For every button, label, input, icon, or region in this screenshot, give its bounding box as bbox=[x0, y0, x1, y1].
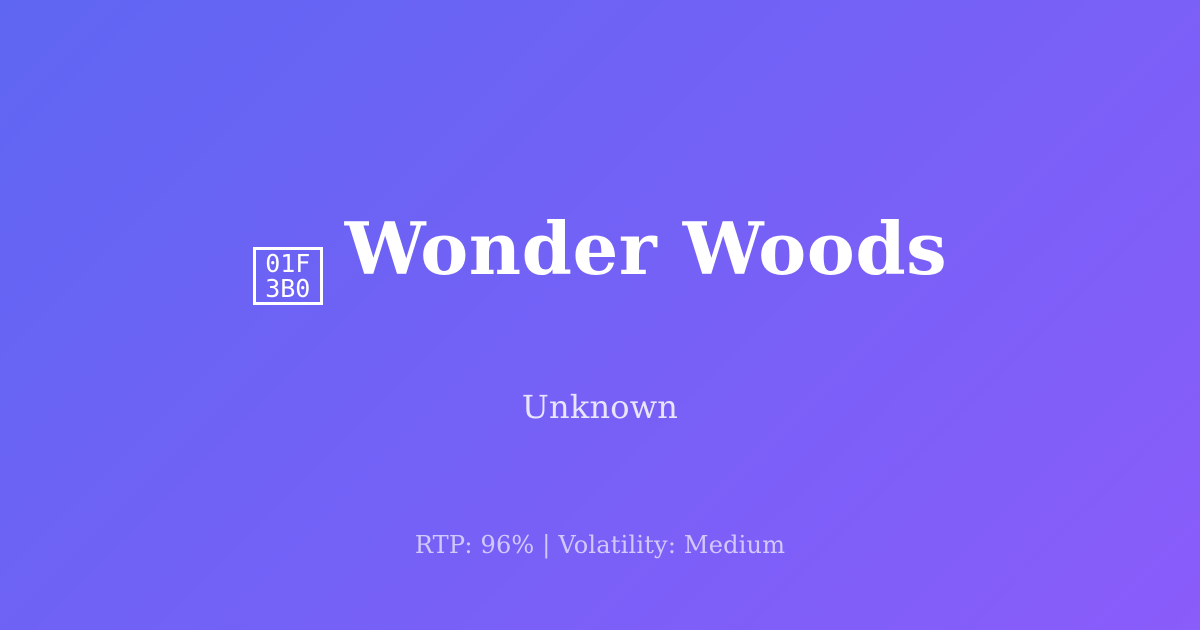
tofu-hex-row-top: 01F bbox=[265, 251, 310, 276]
provider-label: Unknown bbox=[522, 388, 678, 426]
meta-strip: RTP: 96% | Volatility: Medium bbox=[0, 530, 1200, 560]
og-share-card: 01F 3B0 Wonder Woods Unknown RTP: 96% | … bbox=[0, 0, 1200, 630]
tofu-hex-row-bottom: 3B0 bbox=[265, 276, 310, 301]
hero-group: 01F 3B0 Wonder Woods Unknown bbox=[0, 162, 1200, 426]
rtp-volatility-text: RTP: 96% | Volatility: Medium bbox=[415, 531, 785, 559]
title-row: 01F 3B0 Wonder Woods bbox=[253, 162, 947, 336]
page-title: Wonder Woods bbox=[345, 210, 947, 288]
slot-machine-emoji-icon: 01F 3B0 bbox=[253, 247, 323, 305]
